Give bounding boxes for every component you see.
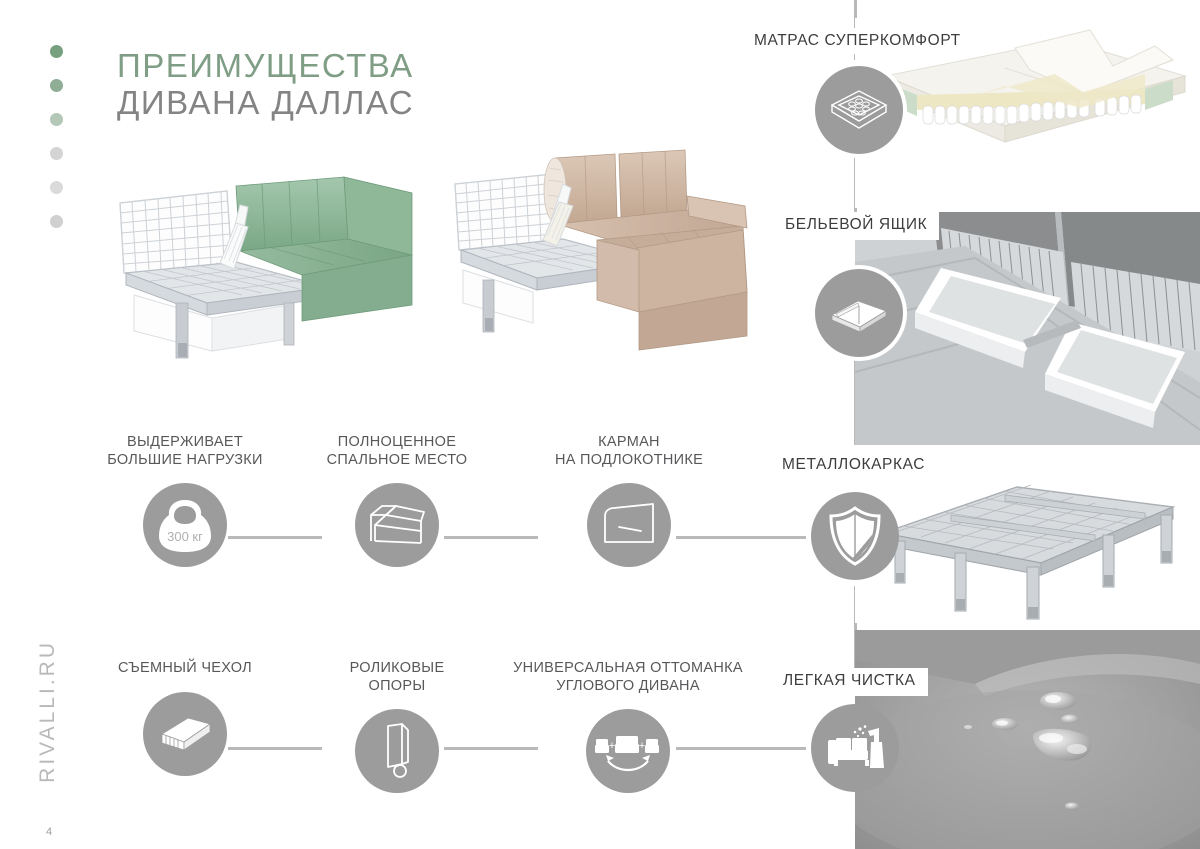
svg-text:+: + (639, 740, 645, 752)
load-badge-text: 300 кг (167, 529, 203, 544)
feature-caption: СЪЕМНЫЙ ЧЕХОЛ (100, 660, 270, 678)
feature-caption: ПОЛНОЦЕННОЕ СПАЛЬНОЕ МЕСТО (312, 434, 482, 469)
dot-1 (50, 45, 63, 58)
caster-icon (355, 709, 439, 793)
feature-removable-cover[interactable]: СЪЕМНЫЙ ЧЕХОЛ (100, 660, 270, 776)
feature-caption: РОЛИКОВЫЕ ОПОРЫ (312, 660, 482, 695)
label-linen-box: БЕЛЬЕВОЙ ЯЩИК (785, 212, 939, 240)
kettlebell-icon: 300 кг (143, 483, 227, 567)
bed-icon (355, 483, 439, 567)
feature-universal-ottoman[interactable]: УНИВЕРСАЛЬНАЯ ОТТОМАНКА УГЛОВОГО ДИВАНА … (500, 660, 756, 793)
label-metal-frame: МЕТАЛЛОКАРКАС (782, 452, 935, 478)
panel-storage-box-photo (855, 212, 1200, 445)
decorative-dot-column (50, 45, 70, 249)
cover-icon (143, 692, 227, 776)
feature-roller-supports[interactable]: РОЛИКОВЫЕ ОПОРЫ (312, 660, 482, 793)
label-easy-clean: ЛЕГКАЯ ЧИСТКА (783, 668, 928, 696)
page-title: ПРЕИМУЩЕСТВА ДИВАНА ДАЛЛАС (117, 48, 414, 122)
feature-load-capacity[interactable]: ВЫДЕРЖИВАЕТ БОЛЬШИЕ НАГРУЗКИ 300 кг (100, 434, 270, 567)
brand-vertical-label: RIVALLI.RU (36, 640, 60, 783)
title-line-2: ДИВАНА ДАЛЛАС (117, 85, 414, 122)
panel-water-drops-photo (855, 630, 1200, 849)
dot-2 (50, 79, 63, 92)
title-line-1: ПРЕИМУЩЕСТВА (117, 48, 414, 85)
mattress-spring-icon (811, 62, 907, 158)
slide-page: RIVALLI.RU 4 ПРЕИМУЩЕСТВА ДИВАНА ДАЛЛАС (0, 0, 1200, 849)
pocket-icon (587, 483, 671, 567)
linen-box-icon (811, 265, 907, 361)
sofa-spray-icon (811, 704, 899, 792)
dot-6 (50, 215, 63, 228)
page-number: 4 (46, 826, 52, 838)
dot-3 (50, 113, 63, 126)
feature-caption: КАРМАН НА ПОДЛОКОТНИКЕ (544, 434, 714, 469)
dot-5 (50, 181, 63, 194)
feature-sleeping-place[interactable]: ПОЛНОЦЕННОЕ СПАЛЬНОЕ МЕСТО (312, 434, 482, 567)
dot-4 (50, 147, 63, 160)
feature-caption: ВЫДЕРЖИВАЕТ БОЛЬШИЕ НАГРУЗКИ (100, 434, 270, 469)
feature-armrest-pocket[interactable]: КАРМАН НА ПОДЛОКОТНИКЕ (544, 434, 714, 567)
modular-sofa-icon: ++ (586, 709, 670, 793)
svg-text:+: + (609, 740, 615, 752)
sofa-dallas-beige-corner (447, 140, 757, 365)
shield-icon (811, 492, 899, 580)
sofa-dallas-green (112, 155, 422, 365)
feature-caption: УНИВЕРСАЛЬНАЯ ОТТОМАНКА УГЛОВОГО ДИВАНА (500, 660, 756, 695)
label-mattress: МАТРАС СУПЕРКОМФОРТ (754, 28, 971, 54)
